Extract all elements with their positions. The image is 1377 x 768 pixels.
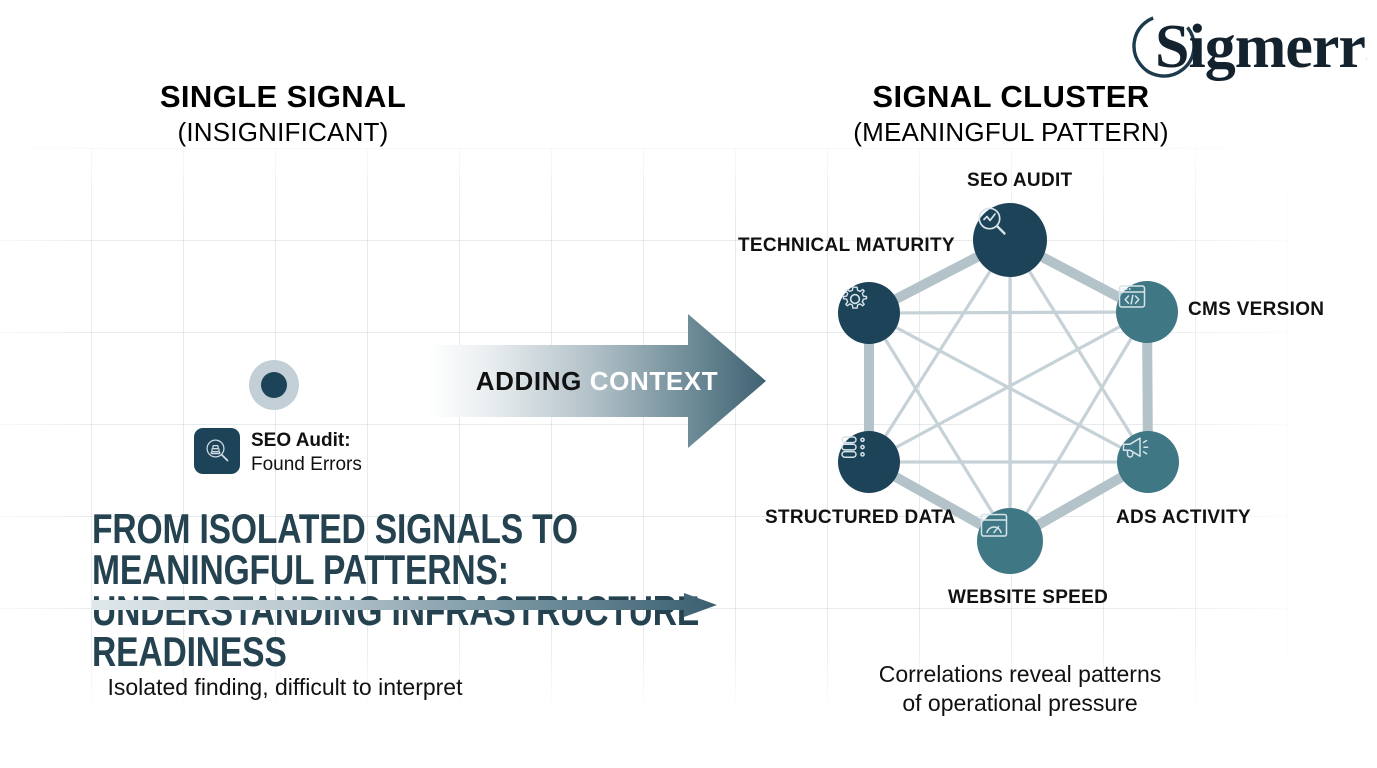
node-label-website-speed: WEBSITE SPEED xyxy=(948,587,1108,609)
sigmerra-logo: Sigmerra xyxy=(1127,4,1367,86)
single-signal-label-line2: Found Errors xyxy=(251,453,551,477)
left-heading-line2: (INSIGNIFICANT) xyxy=(80,116,486,148)
right-heading-line1: SIGNAL CLUSTER xyxy=(808,78,1214,116)
node-label-cms-version: CMS VERSION xyxy=(1188,299,1324,321)
right-column-heading: SIGNAL CLUSTER (MEANINGFUL PATTERN) xyxy=(808,78,1214,148)
headline-underline-arrow xyxy=(92,592,717,618)
node-label-ads-activity: ADS ACTIVITY xyxy=(1116,507,1251,529)
right-heading-line2: (MEANINGFUL PATTERN) xyxy=(808,116,1214,148)
infographic-canvas: Sigmerra SINGLE SIGNAL (INSIGNIFICANT) S… xyxy=(0,0,1377,768)
adding-context-arrow xyxy=(428,312,766,450)
node-label-seo-audit: SEO AUDIT xyxy=(967,170,1072,192)
signal-cluster-network: SEO AUDIT CMS VERSION ADS xyxy=(760,150,1360,620)
svg-text:Sigmerra: Sigmerra xyxy=(1155,13,1367,81)
node-ads-activity[interactable] xyxy=(1117,431,1179,493)
node-seo-audit[interactable] xyxy=(973,203,1047,277)
right-caption: Correlations reveal patterns of operatio… xyxy=(820,660,1220,718)
left-caption: Isolated finding, difficult to interpret xyxy=(40,673,530,702)
single-signal-core xyxy=(261,372,287,398)
headline: FROM ISOLATED SIGNALS TO MEANINGFUL PATT… xyxy=(92,508,796,672)
node-label-technical-maturity: TECHNICAL MATURITY xyxy=(738,235,955,257)
right-caption-line2: of operational pressure xyxy=(820,689,1220,718)
seo-audit-magnifier-icon xyxy=(194,428,240,474)
headline-line1: FROM ISOLATED SIGNALS TO MEANINGFUL PATT… xyxy=(92,508,796,590)
node-cms-version[interactable] xyxy=(1116,281,1178,343)
node-structured-data[interactable] xyxy=(838,431,900,493)
node-website-speed[interactable] xyxy=(977,508,1043,574)
node-technical-maturity[interactable] xyxy=(838,282,900,344)
single-signal-dot xyxy=(249,360,299,410)
cluster-edges xyxy=(760,150,1360,620)
left-column-heading: SINGLE SIGNAL (INSIGNIFICANT) xyxy=(80,78,486,148)
node-label-structured-data: STRUCTURED DATA xyxy=(765,507,956,529)
right-caption-line1: Correlations reveal patterns xyxy=(820,660,1220,689)
left-heading-line1: SINGLE SIGNAL xyxy=(80,78,486,116)
